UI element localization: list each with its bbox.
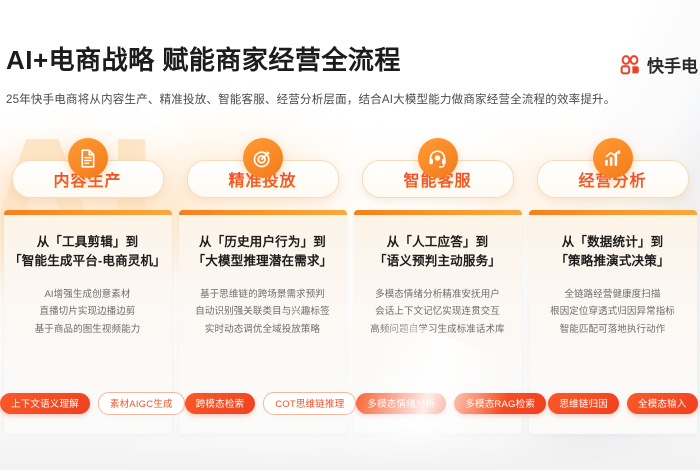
brand-name: 快手电 — [647, 52, 698, 77]
kuaishou-logo-icon — [619, 55, 641, 75]
tag-group: 思维链归因 全模态输入 — [546, 388, 700, 418]
page-title: AI+电商战略 赋能商家经营全流程 — [6, 40, 401, 77]
slide-header: AI+电商战略 赋能商家经营全流程 快手电 25年快手电商将从内容生产、精准投放… — [0, 40, 700, 107]
card-top-accent — [529, 210, 697, 215]
tag-group: 跨模态检索 COT思维链推理 — [185, 388, 357, 418]
card-top-accent — [4, 210, 172, 215]
slide-canvas: AI AI+电商战略 赋能商家经营全流程 快手电 25年快手电商将从内容生产、精… — [0, 0, 700, 470]
bottom-fade — [0, 426, 700, 470]
tag-group: 上下文语义理解 素材AIGC生成 — [0, 388, 185, 418]
brand-lockup: 快手电 — [619, 52, 698, 77]
capability-tag[interactable]: 素材AIGC生成 — [98, 392, 185, 415]
page-subtitle: 25年快手电商将从内容生产、精准投放、智能客服、经营分析层面，结合AI大模型能力… — [6, 91, 686, 107]
card-headline-line2: 「智能生成平台-电商灵机」 — [9, 252, 166, 271]
card-point: 基于思维链的跨场景需求预判 — [195, 286, 329, 304]
card-headline-line1: 从「数据统计」到 — [555, 233, 669, 252]
card-headline-line1: 从「历史用户行为」到 — [193, 233, 333, 252]
card-points: 基于思维链的跨场景需求预判 自动识别强关联类目与兴趣标签 实时动态调优全域投放策… — [195, 286, 329, 339]
card-point: 直播切片实现边播边剪 — [35, 303, 141, 321]
title-row: AI+电商战略 赋能商家经营全流程 快手电 — [14, 40, 686, 77]
card-point: 实时动态调优全域投放策略 — [195, 321, 329, 339]
capability-tag[interactable]: 上下文语义理解 — [0, 393, 90, 414]
capability-tag[interactable]: 全模态输入 — [627, 393, 698, 414]
card-headline-line2: 「语义预判主动服务」 — [374, 252, 501, 271]
card-point: 基于商品的图生视频能力 — [35, 321, 141, 339]
card-points: 全链路经营健康度扫描 根因定位穿透式归因异常指标 智能匹配可落地执行动作 — [550, 286, 675, 339]
card-headline-line1: 从「人工应答」到 — [374, 233, 501, 252]
card-point: AI增强生成创意素材 — [35, 286, 141, 304]
card-point: 全链路经营健康度扫描 — [550, 286, 675, 304]
card-point: 多模态情绪分析精准安抚用户 — [370, 286, 504, 304]
card-point: 自动识别强关联类目与兴趣标签 — [195, 303, 329, 321]
card-headline: 从「历史用户行为」到 「大模型推理潜在需求」 — [193, 233, 333, 272]
card-headline: 从「数据统计」到 「策略推演式决策」 — [555, 233, 669, 272]
card-point: 根因定位穿透式归因异常指标 — [550, 303, 675, 321]
document-icon — [68, 138, 108, 178]
capability-tag[interactable]: 思维链归因 — [548, 393, 619, 414]
bar-chart-up-icon — [593, 138, 633, 178]
card-headline-line2: 「大模型推理潜在需求」 — [193, 252, 333, 271]
headset-icon — [418, 138, 458, 178]
card-headline-line1: 从「工具剪辑」到 — [9, 233, 166, 252]
card-points: AI增强生成创意素材 直播切片实现边播边剪 基于商品的图生视频能力 — [35, 286, 141, 339]
capability-tag[interactable]: 跨模态检索 — [185, 393, 256, 414]
card-top-accent — [179, 210, 347, 215]
target-icon — [243, 138, 283, 178]
card-point: 智能匹配可落地执行动作 — [550, 321, 675, 339]
card-headline: 从「人工应答」到 「语义预判主动服务」 — [374, 233, 501, 272]
card-headline: 从「工具剪辑」到 「智能生成平台-电商灵机」 — [9, 233, 166, 272]
card-top-accent — [354, 210, 522, 215]
card-headline-line2: 「策略推演式决策」 — [555, 252, 669, 271]
